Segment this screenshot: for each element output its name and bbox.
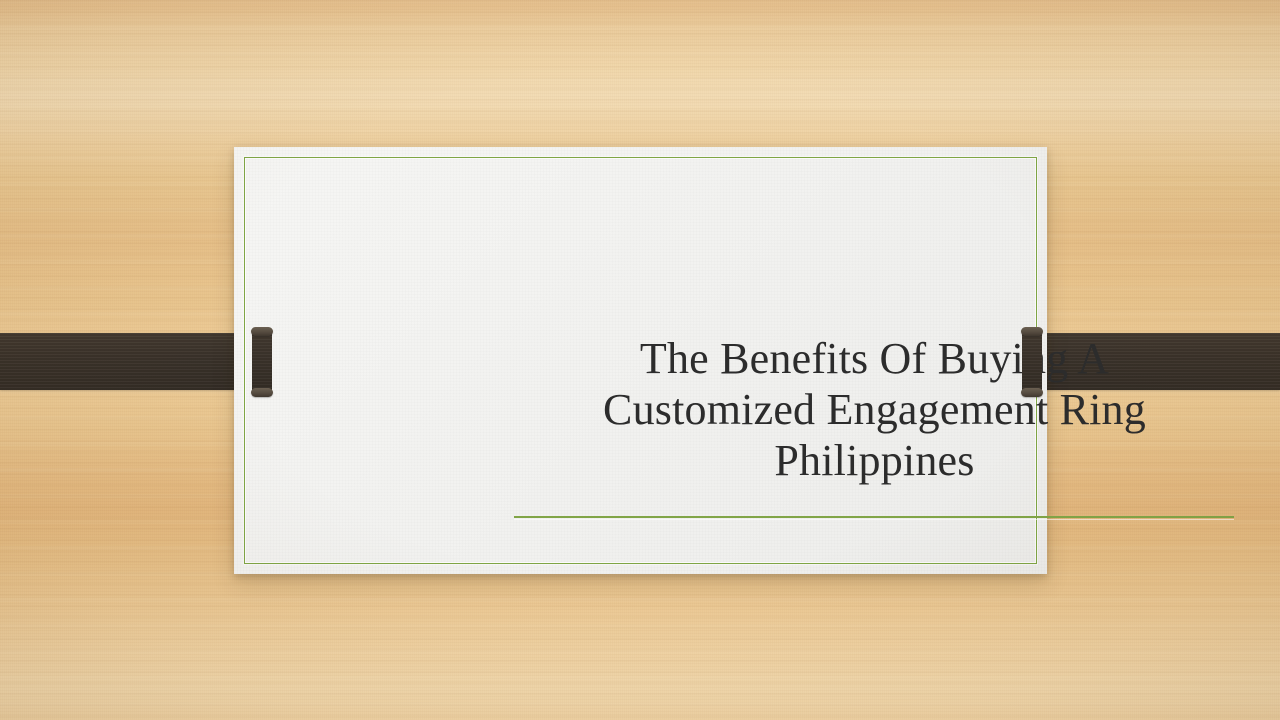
ribbon-tab-right	[1022, 330, 1042, 394]
ribbon-tab-left	[252, 330, 272, 394]
title-block: The Benefits Of Buying A Customized Enga…	[496, 333, 1253, 486]
slide-canvas: The Benefits Of Buying A Customized Enga…	[0, 0, 1280, 720]
page-title: The Benefits Of Buying A Customized Enga…	[496, 333, 1253, 486]
title-line-3: Philippines	[774, 436, 974, 485]
title-card: The Benefits Of Buying A Customized Enga…	[234, 147, 1047, 574]
title-underline-rule	[514, 516, 1234, 518]
title-line-2: Customized Engagement Ring	[603, 385, 1146, 434]
